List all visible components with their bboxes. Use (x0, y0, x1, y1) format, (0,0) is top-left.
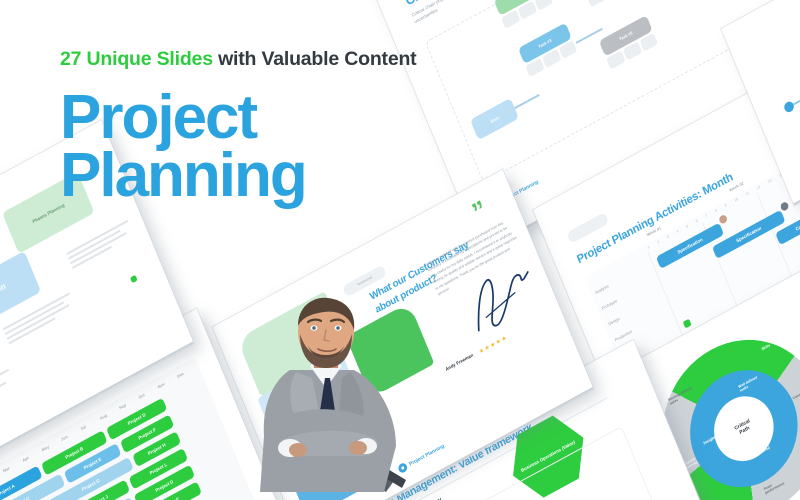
milestone-dot-icon (130, 275, 138, 283)
presentation-preview-banner: Critical Chain Project Management Critic… (0, 0, 800, 500)
donut-center-line2: Path (739, 426, 751, 437)
headline-block: 27 Unique Slides with Valuable Content P… (60, 48, 416, 205)
flow-node-label: Task #5 (619, 30, 634, 42)
title-line-2: Planning (60, 147, 416, 205)
flow-node-label: Task #3 (538, 38, 553, 50)
flow-node-label: Start (490, 115, 500, 124)
star-rating: ★ ★ ★ ★ ★ (478, 334, 508, 355)
kicker-dark-text: with Valuable Content (213, 48, 417, 70)
placeholder-text-lines (66, 220, 135, 272)
testimonial-author: Andy Freeman (445, 352, 474, 372)
quote-mark-icon: ” (470, 199, 488, 222)
kicker-green-text: 27 Unique Slides (60, 48, 213, 70)
slide-edge (794, 79, 800, 205)
businessman-photo (246, 296, 432, 492)
flow-connector (793, 46, 800, 105)
page-title: Project Planning (60, 89, 416, 204)
title-line-1: Project (60, 89, 416, 147)
kicker-line: 27 Unique Slides with Valuable Content (60, 48, 416, 71)
flow-node-label: Task #1 (513, 0, 528, 1)
placeholder-text-lines (0, 369, 14, 416)
